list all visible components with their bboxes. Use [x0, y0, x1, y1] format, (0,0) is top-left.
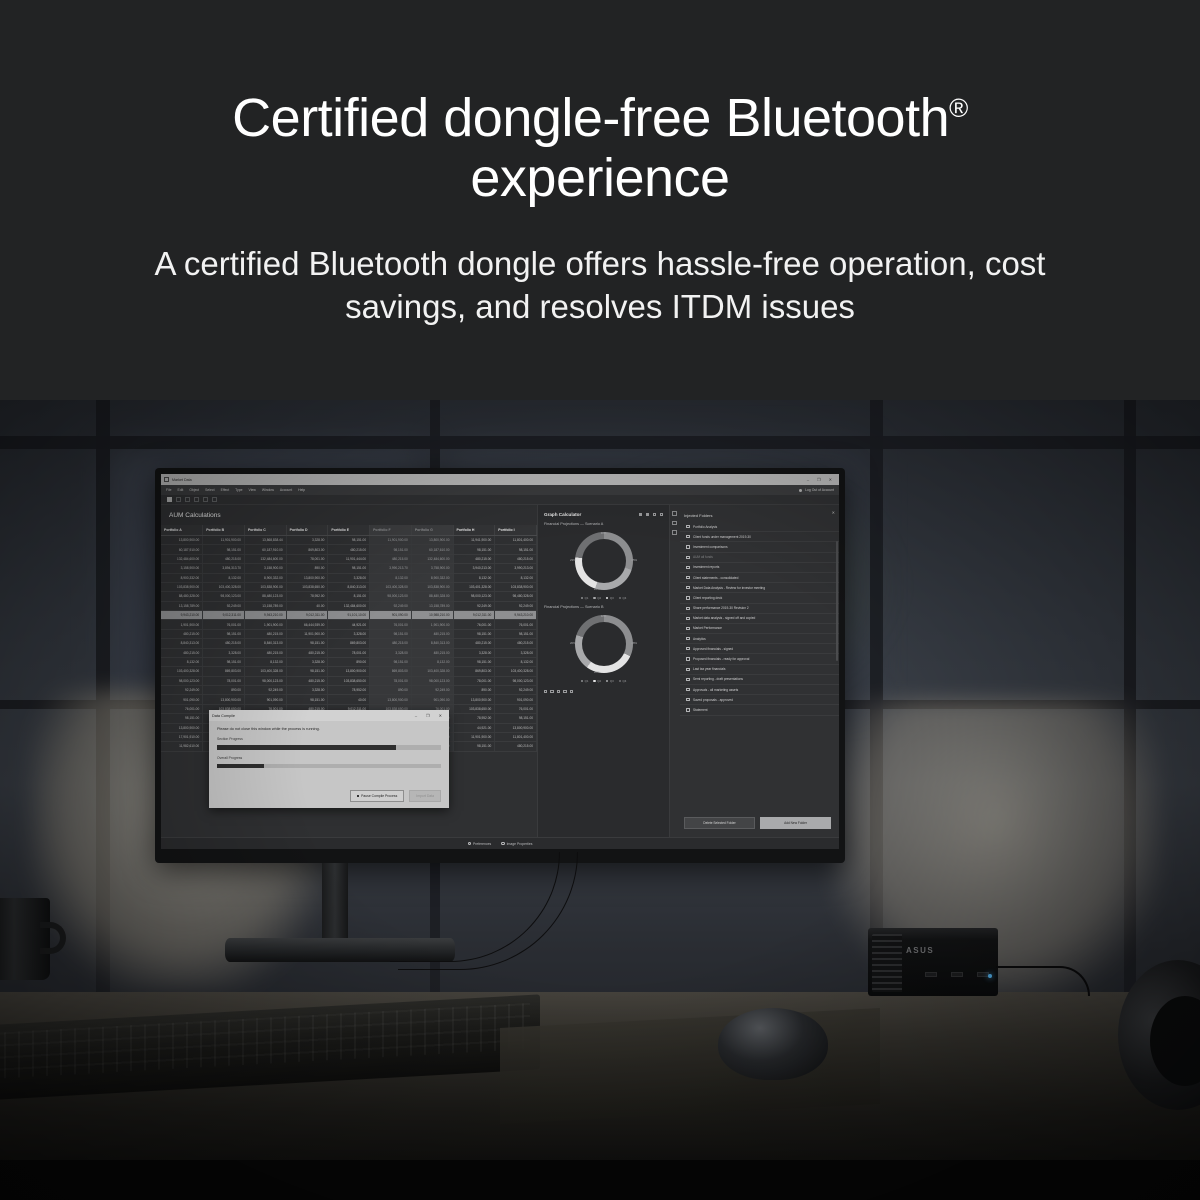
- promo-header: Certified dongle-free Bluetooth® experie…: [0, 0, 1200, 400]
- table-cell: 92,249.00: [495, 686, 537, 695]
- dialog-buttons: Pause Compile Process Import Data: [217, 790, 441, 802]
- table-row[interactable]: 88,480,328.0098,000,123.0088,480,123.007…: [161, 592, 537, 601]
- table-cell: 8,132.00: [411, 657, 453, 666]
- folder-rail: [672, 511, 677, 535]
- logout-label[interactable]: Log Out of Account: [805, 488, 834, 492]
- folder-list-item[interactable]: Client reporting deck: [680, 593, 839, 603]
- table-cell: 8,900,332.00: [244, 573, 286, 582]
- folder-icon: [686, 535, 690, 538]
- column-header[interactable]: Portfolio A: [161, 525, 203, 536]
- table-row[interactable]: 480,215.003,328.00480,215.00480,215.0078…: [161, 648, 537, 657]
- table-cell: 103,838,650.00: [328, 676, 370, 685]
- chart-scenario-b: Financial Projections — Scenario B 32% 2…: [544, 605, 663, 683]
- folder-list-item[interactable]: Market Performance: [680, 624, 839, 634]
- page-subtitle: A certified Bluetooth dongle offers hass…: [120, 242, 1080, 328]
- folder-list-item[interactable]: Proposed financials - ready for approval: [680, 654, 839, 664]
- legend-label: Q4: [623, 679, 627, 683]
- table-row[interactable]: 103,400,328.00869,803.00103,400,328.0098…: [161, 667, 537, 676]
- table-cell: 76,001.00: [161, 704, 203, 713]
- table-cell: 901,090.00: [411, 695, 453, 704]
- image-properties-label: Image Properties: [507, 842, 533, 846]
- folder-label: Market Data Analysis - Review for invest…: [693, 586, 765, 590]
- table-cell: 98,151.00: [328, 536, 370, 545]
- table-cell: 132,484,600.00: [328, 601, 370, 610]
- table-cell: 17,901,910.00: [161, 732, 203, 741]
- graph-footer-toolbar: [544, 688, 663, 693]
- pause-icon: [357, 795, 360, 798]
- folder-icon: [686, 627, 690, 630]
- table-cell: 11,982,610.00: [161, 742, 203, 751]
- headline-line-1: Certified dongle-free Bluetooth: [232, 88, 949, 148]
- rectangle-icon[interactable]: [176, 497, 181, 502]
- table-row[interactable]: 103,838,900.00103,400,328.00103,838,900.…: [161, 582, 537, 591]
- folder-icon: [686, 708, 690, 711]
- column-header[interactable]: Portfolio F: [370, 525, 412, 536]
- table-cell: 103,400,328.00: [411, 667, 453, 676]
- table-cell: 3,328.00: [328, 629, 370, 638]
- folder-label: Proposed financials - ready for approval: [693, 657, 749, 661]
- menu-item-type[interactable]: Type: [235, 488, 242, 492]
- folder-actions: Delete Selected Folder Add New Folder: [670, 811, 839, 837]
- table-cell: 103,401,328.00: [453, 582, 495, 591]
- folder-list-item[interactable]: Client funds under management 2019-30: [680, 532, 839, 542]
- table-cell: 98,151.00: [370, 545, 412, 554]
- table-row[interactable]: 92,249.00890.0092,249.003,328.0078,952.0…: [161, 686, 537, 695]
- graph-calculator-header: Graph Calculator: [544, 512, 663, 517]
- legend-item: Q2: [593, 596, 601, 600]
- close-icon[interactable]: ✕: [439, 714, 442, 718]
- folder-label: Client statements - consolidated: [693, 576, 738, 580]
- folder-list-item[interactable]: Last tax year financials: [680, 665, 839, 675]
- legend-item: Q1: [581, 679, 589, 683]
- table-cell: 480,215.00: [203, 639, 245, 648]
- table-cell: 480,215.00: [370, 554, 412, 563]
- table-row[interactable]: 901,090.0013,800,900.00901,090.0098,151.…: [161, 695, 537, 704]
- table-cell: 3,328.00: [286, 686, 328, 695]
- table-cell: 3,328.00: [286, 657, 328, 666]
- column-header[interactable]: Portfolio I: [495, 525, 537, 536]
- table-row[interactable]: 98,000,123.0078,001.0098,000,123.00480,2…: [161, 676, 537, 685]
- legend-swatch-icon: [581, 680, 583, 682]
- table-cell: 8,840,313.00: [244, 639, 286, 648]
- folder-label: Saved proposals - approved: [693, 698, 733, 702]
- table-cell: 11,901,900.00: [453, 732, 495, 741]
- table-cell: 103,400,328.00: [370, 582, 412, 591]
- desk-front-edge: [0, 1160, 1200, 1200]
- table-cell: 480,215.00: [495, 742, 537, 751]
- mousepad: [500, 1008, 880, 1124]
- table-cell: 9,012,311.00: [203, 611, 245, 620]
- menu-icon[interactable]: [660, 513, 663, 516]
- pause-compile-process-button[interactable]: Pause Compile Process: [350, 790, 405, 802]
- table-cell: 480,215.00: [453, 554, 495, 563]
- table-cell: 98,000,123.00: [370, 592, 412, 601]
- table-cell: 103,400,328.00: [161, 667, 203, 676]
- table-cell: 60,187,610.00: [411, 545, 453, 554]
- menu-item-select[interactable]: Select: [205, 488, 214, 492]
- table-cell: 901,090.00: [495, 695, 537, 704]
- table-cell: 901,090.00: [161, 695, 203, 704]
- table-cell: 66,444,939.00: [286, 620, 328, 629]
- folder-list-item[interactable]: Investment reports: [680, 563, 839, 573]
- column-header[interactable]: Portfolio G: [411, 525, 453, 536]
- donut-ring: [575, 532, 633, 590]
- legend-swatch-icon: [606, 680, 608, 682]
- expand-icon[interactable]: [544, 690, 547, 693]
- table-cell: 8,840,313.00: [328, 582, 370, 591]
- table-cell: 9,943,210.00: [244, 611, 286, 620]
- folder-label: Semi reporting - draft presentations: [693, 677, 743, 681]
- table-cell: 8,900,332.00: [411, 573, 453, 582]
- overall-progress-label: Overall Progress: [217, 756, 441, 760]
- table-cell: 480,215.00: [411, 629, 453, 638]
- chart-scenario-a: Financial Projections — Scenario A 30% 2…: [544, 522, 663, 600]
- table-cell: 132,484,600.00: [244, 554, 286, 563]
- menu-item-object[interactable]: Object: [189, 488, 199, 492]
- donut-label-top: 32%: [601, 614, 607, 618]
- legend-swatch-icon: [593, 680, 595, 682]
- folder-label: AUM all funds: [693, 555, 713, 559]
- table-cell: 13,800,900.00: [495, 723, 537, 732]
- menu-item-view[interactable]: View: [249, 488, 256, 492]
- menu-item-help[interactable]: Help: [298, 488, 305, 492]
- chart-icon[interactable]: [557, 690, 560, 693]
- table-cell: 8,132.00: [370, 573, 412, 582]
- table-cell: 103,400,328.00: [244, 667, 286, 676]
- table-cell: 13,800,900.00: [453, 695, 495, 704]
- legend-label: Q3: [610, 596, 614, 600]
- table-cell: 13,800,900.00: [411, 536, 453, 545]
- table-row[interactable]: 9,943,210.009,012,311.009,943,210.009,01…: [161, 611, 537, 620]
- table-cell: 88,480,328.00: [411, 592, 453, 601]
- layers-icon[interactable]: [672, 511, 677, 516]
- folder-list-item[interactable]: Investment comparisons: [680, 542, 839, 552]
- account-area[interactable]: Log Out of Account: [799, 488, 834, 492]
- pause-label: Pause Compile Process: [361, 794, 397, 798]
- folder-list-item[interactable]: Saved proposals - approved: [680, 695, 839, 705]
- table-row[interactable]: 3,158,900.003,894,313.703,158,900.00890.…: [161, 564, 537, 573]
- maximize-icon[interactable]: ❐: [817, 478, 821, 482]
- folder-icon: [686, 596, 690, 599]
- folder-icon: [686, 637, 690, 640]
- table-cell: 13,800,900.00: [286, 573, 328, 582]
- table-cell: 13,800,900.00: [328, 667, 370, 676]
- table-cell: 92,249.00: [453, 601, 495, 610]
- pen-icon[interactable]: [185, 497, 190, 502]
- table-cell: 98,151.00: [203, 545, 245, 554]
- folder-list-item[interactable]: Approved financials - signed: [680, 644, 839, 654]
- cursor-icon[interactable]: [167, 497, 172, 502]
- folder-list-item[interactable]: Client statements - consolidated: [680, 573, 839, 583]
- folder-icon[interactable]: [672, 521, 677, 526]
- folder-list-item[interactable]: Analytics: [680, 634, 839, 644]
- registered-trademark-icon: ®: [949, 93, 968, 123]
- more-icon[interactable]: [639, 513, 642, 516]
- data-compile-dialog[interactable]: Data Compile – ❐ ✕ Please do not close t…: [209, 710, 449, 808]
- dialog-title: Data Compile: [212, 714, 235, 718]
- folder-label: Investment reports: [693, 565, 719, 569]
- column-header[interactable]: Portfolio H: [453, 525, 495, 536]
- table-cell: 98,151.00: [370, 657, 412, 666]
- table-cell: 98,000,123.00: [244, 676, 286, 685]
- page-title: Certified dongle-free Bluetooth® experie…: [232, 78, 968, 208]
- legend-item: Q3: [606, 679, 614, 683]
- folder-label: Last tax year financials: [693, 667, 725, 671]
- chart-legend-b: Q1Q2Q3Q4: [544, 679, 663, 683]
- table-cell: 92,249.00: [244, 686, 286, 695]
- table-cell: 13,158,789.00: [244, 601, 286, 610]
- folder-list-item[interactable]: Statement: [680, 705, 839, 715]
- maximize-icon[interactable]: ❐: [426, 714, 430, 718]
- donut-label-right: 28%: [631, 641, 637, 645]
- folder-label: Approvals - all marketing assets: [693, 688, 738, 692]
- table-cell: 3,758,900.00: [411, 564, 453, 573]
- legend-item: Q1: [581, 596, 589, 600]
- dialog-window-controls: – ❐ ✕: [415, 714, 446, 718]
- table-row[interactable]: 8,132.0098,151.008,132.003,328.00890.009…: [161, 657, 537, 666]
- export-icon[interactable]: [563, 690, 566, 693]
- table-cell: 132,484,600.00: [161, 554, 203, 563]
- close-icon[interactable]: ✕: [832, 510, 835, 515]
- table-cell: 890.00: [370, 686, 412, 695]
- table-cell: 480,215.00: [161, 629, 203, 638]
- table-cell: 901,090.00: [244, 695, 286, 704]
- donut-label-right: 25%: [631, 558, 637, 562]
- folder-label: Approved financials - signed: [693, 647, 733, 651]
- folder-list-item[interactable]: AUM all funds: [680, 553, 839, 563]
- window-controls: – ❐ ✕: [807, 478, 836, 482]
- chart-caption: Financial Projections — Scenario A: [544, 522, 663, 526]
- table-cell: 98,151.00: [370, 629, 412, 638]
- table-cell: 3,158,900.00: [161, 564, 203, 573]
- table-cell: 92,249.00: [161, 686, 203, 695]
- donut-chart-b[interactable]: 32% 28% 20% 20%: [544, 612, 663, 676]
- table-cell: 98,151.00: [453, 629, 495, 638]
- legend-swatch-icon: [619, 597, 621, 599]
- table-cell: 98,151.00: [453, 545, 495, 554]
- table-cell: 132,484,600.00: [411, 554, 453, 563]
- table-cell: 13,158,789.00: [411, 601, 453, 610]
- injected-folders-panel: ✕ Injected Folders Portfolio AnalysisCli…: [669, 505, 839, 837]
- table-cell: 76,001.00: [203, 620, 245, 629]
- table-cell: 92,249.00: [411, 686, 453, 695]
- table-cell: 3,158,900.00: [244, 564, 286, 573]
- power-led-icon: [988, 974, 992, 978]
- column-header[interactable]: Portfolio B: [203, 525, 245, 536]
- monitor-stand-neck: [322, 863, 348, 943]
- table-cell: 890.00: [203, 686, 245, 695]
- table-row[interactable]: 13,800,900.0011,901,900.0013,868,838.443…: [161, 536, 537, 545]
- table-cell: 98,151.00: [203, 629, 245, 638]
- minimize-icon[interactable]: –: [807, 478, 809, 482]
- table-cell: 13,800,900.00: [161, 723, 203, 732]
- account-avatar-icon: [799, 489, 802, 492]
- minimize-icon[interactable]: –: [415, 714, 417, 718]
- table-row[interactable]: 60,187,910.0098,151.0060,187,910.00869,8…: [161, 545, 537, 554]
- folder-icon: [686, 698, 690, 701]
- table-cell: 11,901,900.00: [370, 536, 412, 545]
- table-cell: 3,990,213.70: [370, 564, 412, 573]
- monitor-bezel: Market Data – ❐ ✕ File Edit Object Selec…: [155, 468, 845, 863]
- table-cell: 480,215.00: [495, 554, 537, 563]
- table-cell: 901,090.00: [370, 611, 412, 620]
- app-workspace: AUM Calculations Portfolio APortfolio BP…: [161, 505, 839, 837]
- table-cell: 98,000,123.00: [203, 592, 245, 601]
- minimize-icon[interactable]: [646, 513, 649, 516]
- column-header[interactable]: Portfolio D: [286, 525, 328, 536]
- table-cell: 13,158,789.00: [161, 601, 203, 610]
- folder-icon: [686, 525, 690, 528]
- folder-label: Market data analysis - signed off and co…: [693, 616, 755, 620]
- column-header[interactable]: Portfolio E: [328, 525, 370, 536]
- folder-icon: [686, 556, 690, 559]
- folder-list-item[interactable]: Semi reporting - draft presentations: [680, 675, 839, 685]
- table-cell: 103,838,900.00: [411, 582, 453, 591]
- crop-icon[interactable]: [212, 497, 217, 502]
- folder-label: Investment comparisons: [693, 545, 728, 549]
- table-cell: 88,480,328.00: [161, 592, 203, 601]
- table-cell: 76,001.00: [495, 620, 537, 629]
- panel-title: AUM Calculations: [161, 512, 537, 525]
- folder-scrollbar[interactable]: [836, 541, 838, 661]
- table-cell: 3,328.00: [286, 536, 328, 545]
- folder-icon: [686, 617, 690, 620]
- table-cell: 3,328.00: [495, 648, 537, 657]
- table-row[interactable]: 13,158,789.0092,249.0013,158,789.0040.00…: [161, 601, 537, 610]
- legend-label: Q1: [585, 596, 589, 600]
- table-cell: 11,801,400.00: [495, 732, 537, 741]
- table-cell: 3,990,213.00: [495, 564, 537, 573]
- folder-list-item[interactable]: Portfolio Analysis: [680, 522, 839, 532]
- folder-icon: [686, 647, 690, 650]
- menu-item-edit[interactable]: Edit: [177, 488, 183, 492]
- folder-list-item[interactable]: Share performance 2019-30 Revision 2: [680, 604, 839, 614]
- app-window-icon: [164, 477, 169, 482]
- table-cell: 44,921.00: [328, 620, 370, 629]
- chart-legend-a: Q1Q2Q3Q4: [544, 596, 663, 600]
- table-cell: 3,328.00: [453, 648, 495, 657]
- donut-ring: [575, 615, 633, 673]
- dialog-titlebar: Data Compile – ❐ ✕: [209, 710, 449, 721]
- table-cell: 13,868,838.44: [244, 536, 286, 545]
- popout-icon[interactable]: [653, 513, 656, 516]
- folder-icon: [686, 566, 690, 569]
- chart-caption: Financial Projections — Scenario B: [544, 605, 663, 609]
- table-cell: 78,001.00: [286, 554, 328, 563]
- table-cell: 8,132.00: [203, 573, 245, 582]
- add-new-folder-button[interactable]: Add New Folder: [760, 817, 831, 829]
- graph-calculator-actions: [639, 513, 663, 516]
- folder-list-item[interactable]: Approvals - all marketing assets: [680, 685, 839, 695]
- table-cell: 98,151.00: [495, 545, 537, 554]
- folder-list-item[interactable]: Market Data Analysis - Review for invest…: [680, 583, 839, 593]
- menu-item-window[interactable]: Window: [262, 488, 274, 492]
- table-cell: 3,894,313.70: [203, 564, 245, 573]
- table-cell: 103,838,650.00: [286, 582, 328, 591]
- folder-label: Analytics: [693, 637, 706, 641]
- table-cell: 11,801,400.00: [495, 536, 537, 545]
- grid-icon[interactable]: [550, 690, 553, 693]
- table-cell: 103,838,900.00: [495, 582, 537, 591]
- settings-icon[interactable]: [570, 690, 573, 693]
- shape-icon[interactable]: [194, 497, 199, 502]
- table-cell: 98,151.00: [495, 714, 537, 723]
- table-row[interactable]: 8,840,313.00480,215.008,840,313.0098,151…: [161, 639, 537, 648]
- table-cell: 13,800,900.00: [203, 695, 245, 704]
- table-row[interactable]: 480,215.0098,151.00480,215.0011,901,900.…: [161, 629, 537, 638]
- table-row[interactable]: 1,901,900.0076,001.001,901,900.0066,444,…: [161, 620, 537, 629]
- menu-item-effect[interactable]: Effect: [221, 488, 230, 492]
- window-frame-horizontal-top: [0, 436, 1200, 449]
- zoom-icon[interactable]: [203, 497, 208, 502]
- table-cell: 91,101,10.00: [328, 611, 370, 620]
- overall-progress-bar: [217, 764, 441, 769]
- table-cell: 1,901,900.00: [161, 620, 203, 629]
- folder-label: Portfolio Analysis: [693, 525, 717, 529]
- table-header-row: Portfolio APortfolio BPortfolio CPortfol…: [161, 525, 537, 536]
- usb-port-icon: [925, 972, 937, 977]
- table-cell: 8,151.00: [328, 592, 370, 601]
- delete-selected-folder-button[interactable]: Delete Selected Folder: [684, 817, 755, 829]
- image-icon: [501, 842, 504, 845]
- table-cell: 8,840,313.00: [411, 639, 453, 648]
- table-row[interactable]: 132,484,600.00480,215.00132,484,600.0078…: [161, 554, 537, 563]
- table-cell: 103,400,328.00: [203, 582, 245, 591]
- table-cell: 869,803.00: [203, 667, 245, 676]
- section-progress-fill: [217, 745, 396, 750]
- table-cell: 3,328.00: [328, 573, 370, 582]
- table-cell: 9,012,311.00: [453, 611, 495, 620]
- donut-chart-a[interactable]: 30% 25% 22% 23%: [544, 529, 663, 593]
- table-cell: 480,215.00: [370, 639, 412, 648]
- table-cell: 9,943,210.00: [161, 611, 203, 620]
- info-icon[interactable]: [672, 530, 677, 535]
- table-cell: 103,838,900.00: [244, 582, 286, 591]
- column-header[interactable]: Portfolio C: [244, 525, 286, 536]
- table-cell: 78,001.00: [453, 676, 495, 685]
- table-row[interactable]: 8,900,332.008,132.008,900,332.0013,800,9…: [161, 573, 537, 582]
- image-properties-button[interactable]: Image Properties: [501, 842, 532, 846]
- menu-item-file[interactable]: File: [166, 488, 171, 492]
- table-cell: 92,249.00: [495, 601, 537, 610]
- folder-label: Client funds under management 2019-30: [693, 535, 751, 539]
- table-cell: 78,952.00: [453, 714, 495, 723]
- legend-label: Q2: [597, 596, 601, 600]
- folder-icon: [686, 607, 690, 610]
- table-cell: 480,215.00: [161, 648, 203, 657]
- folder-list-item[interactable]: Market data analysis - signed off and co…: [680, 614, 839, 624]
- table-cell: 98,000,123.00: [495, 676, 537, 685]
- table-cell: 103,400,328.00: [495, 667, 537, 676]
- dialog-message: Please do not close this window while th…: [217, 727, 441, 731]
- table-cell: 13,800,900.00: [161, 536, 203, 545]
- preferences-button[interactable]: Preferences: [468, 842, 492, 846]
- app-statusbar: Preferences Image Properties: [161, 837, 839, 849]
- close-icon[interactable]: ✕: [829, 478, 832, 482]
- menu-item-account[interactable]: Account: [280, 488, 292, 492]
- app-titlebar: Market Data – ❐ ✕: [161, 474, 839, 485]
- folder-icon: [686, 586, 690, 589]
- app-toolbar: [161, 495, 839, 505]
- table-cell: 869,803.00: [453, 667, 495, 676]
- table-cell: 480,215.00: [495, 639, 537, 648]
- legend-swatch-icon: [593, 597, 595, 599]
- table-cell: 98,151.00: [203, 657, 245, 666]
- table-cell: 78,952.00: [328, 686, 370, 695]
- table-cell: 76,001.00: [453, 620, 495, 629]
- folder-list[interactable]: Portfolio AnalysisClient funds under man…: [670, 522, 839, 811]
- legend-item: Q3: [606, 596, 614, 600]
